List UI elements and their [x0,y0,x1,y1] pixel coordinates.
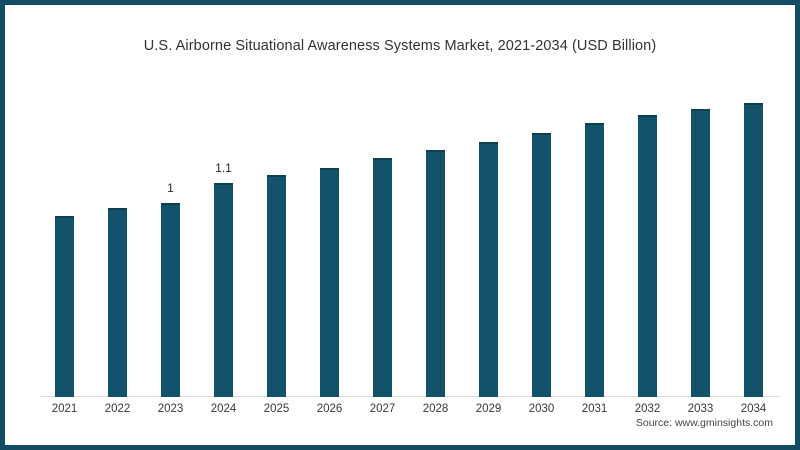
bar-column: 1.1 [197,86,250,397]
bar-column [727,86,780,397]
x-tick-label: 2026 [303,403,356,415]
bar-column: 1 [144,86,197,397]
x-tick-label: 2034 [727,403,780,415]
bar-column [621,86,674,397]
chart-title: U.S. Airborne Situational Awareness Syst… [5,38,795,54]
x-tick-label: 2030 [515,403,568,415]
x-tick-label: 2023 [144,403,197,415]
x-tick-label: 2032 [621,403,674,415]
bar[interactable] [320,168,339,397]
bar-column [356,86,409,397]
x-tick-label: 2025 [250,403,303,415]
bar-column [250,86,303,397]
bar[interactable] [267,175,286,397]
plot-area: 11.1 [27,85,785,397]
bar[interactable] [373,158,392,397]
bar-column [38,86,91,397]
x-tick-label: 2021 [38,403,91,415]
bar[interactable] [161,203,180,397]
bar-value-label: 1.1 [197,161,250,175]
bar[interactable] [532,133,551,397]
x-tick-label: 2029 [462,403,515,415]
x-tick-label: 2028 [409,403,462,415]
bar[interactable] [585,123,604,397]
bar-column [674,86,727,397]
bar[interactable] [214,183,233,397]
source-attribution: Source: www.gminsights.com [636,417,773,429]
x-tick-label: 2024 [197,403,250,415]
bar[interactable] [479,142,498,397]
chart-frame: U.S. Airborne Situational Awareness Syst… [0,0,800,450]
bar-column [91,86,144,397]
bar[interactable] [55,216,74,397]
x-tick-label: 2022 [91,403,144,415]
bar[interactable] [744,103,763,397]
bar[interactable] [426,150,445,397]
x-tick-label: 2027 [356,403,409,415]
bar-column [568,86,621,397]
bar-column [409,86,462,397]
bar-value-label: 1 [144,181,197,195]
x-tick-label: 2031 [568,403,621,415]
bar[interactable] [638,115,657,397]
bar[interactable] [108,208,127,397]
bar-column [462,86,515,397]
bar[interactable] [691,109,710,397]
bar-column [515,86,568,397]
bar-column [303,86,356,397]
x-tick-label: 2033 [674,403,727,415]
